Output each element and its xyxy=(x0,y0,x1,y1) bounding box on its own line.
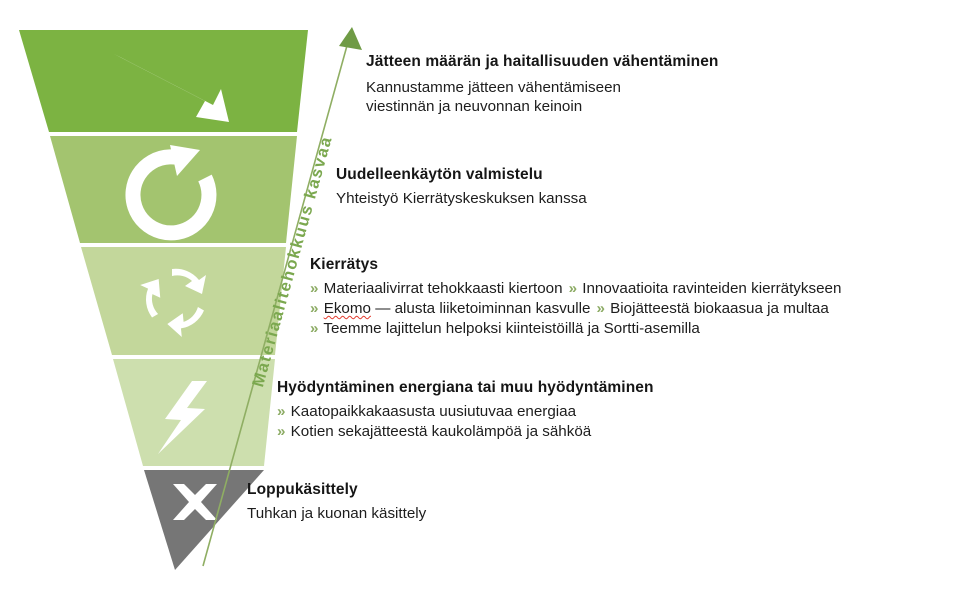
waste-hierarchy-diagram: Materiaalitehokkuus kasvaa Jätteen määrä… xyxy=(0,0,957,599)
bullet-list-energy: » Kaatopaikkakaasusta uusiutuvaa energia… xyxy=(277,402,654,443)
bullet-item: » Kotien sekajätteestä kaukolämpöä ja sä… xyxy=(277,422,654,442)
funnel-band-prevention xyxy=(19,30,308,132)
bullet-item: » Teemme lajittelun helpoksi kiinteistöi… xyxy=(310,319,841,339)
level-block-recycling: Kierrätys » Materiaalivirrat tehokkaasti… xyxy=(310,255,841,340)
level-line-disposal-1: Tuhkan ja kuonan käsittely xyxy=(247,504,426,524)
funnel-band-disposal xyxy=(144,470,264,570)
level-title-energy: Hyödyntäminen energiana tai muu hyödyntä… xyxy=(277,378,654,398)
level-block-disposal: Loppukäsittely Tuhkan ja kuonan käsittel… xyxy=(247,480,426,523)
level-block-energy: Hyödyntäminen energiana tai muu hyödyntä… xyxy=(277,378,654,442)
bullet-text: Ekomo — alusta liiketoiminnan kasvulle xyxy=(319,300,590,317)
bullet-text: Materiaalivirrat tehokkaasti kiertoon xyxy=(319,280,562,297)
bullet-item: » Materiaalivirrat tehokkaasti kiertoon»… xyxy=(310,279,841,299)
bullet-item: » Ekomo — alusta liiketoiminnan kasvulle… xyxy=(310,299,841,319)
bullet-list-recycling: » Materiaalivirrat tehokkaasti kiertoon»… xyxy=(310,279,841,340)
level-block-prevention: Jätteen määrän ja haitallisuuden vähentä… xyxy=(366,52,719,117)
level-title-prevention: Jätteen määrän ja haitallisuuden vähentä… xyxy=(366,52,719,72)
level-title-recycling: Kierrätys xyxy=(310,255,841,275)
level-block-reuse: Uudelleenkäytön valmistelu Yhteistyö Kie… xyxy=(336,165,587,208)
bullet-text: Teemme lajittelun helpoksi kiinteistöill… xyxy=(319,320,699,337)
bullet-text: Kaatopaikkakaasusta uusiutuvaa energiaa xyxy=(286,403,576,420)
bullet-text: Kotien sekajätteestä kaukolämpöä ja sähk… xyxy=(286,423,591,440)
level-line-prevention-2: viestinnän ja neuvonnan keinoin xyxy=(366,97,719,117)
level-title-reuse: Uudelleenkäytön valmistelu xyxy=(336,165,587,185)
misspelled-word: Ekomo xyxy=(324,300,371,317)
guillemet-icon: » xyxy=(563,280,578,297)
funnel-band-recycling xyxy=(81,247,286,355)
level-line-prevention-1: Kannustamme jätteen vähentämiseen xyxy=(366,78,719,98)
guillemet-icon: » xyxy=(590,300,605,317)
bullet-text: Biojätteestä biokaasua ja multaa xyxy=(606,300,829,317)
bullet-item: » Kaatopaikkakaasusta uusiutuvaa energia… xyxy=(277,402,654,422)
level-line-reuse-1: Yhteistyö Kierrätyskeskuksen kanssa xyxy=(336,189,587,209)
level-title-disposal: Loppukäsittely xyxy=(247,480,426,500)
bullet-text: Innovaatioita ravinteiden kierrätykseen xyxy=(578,280,841,297)
